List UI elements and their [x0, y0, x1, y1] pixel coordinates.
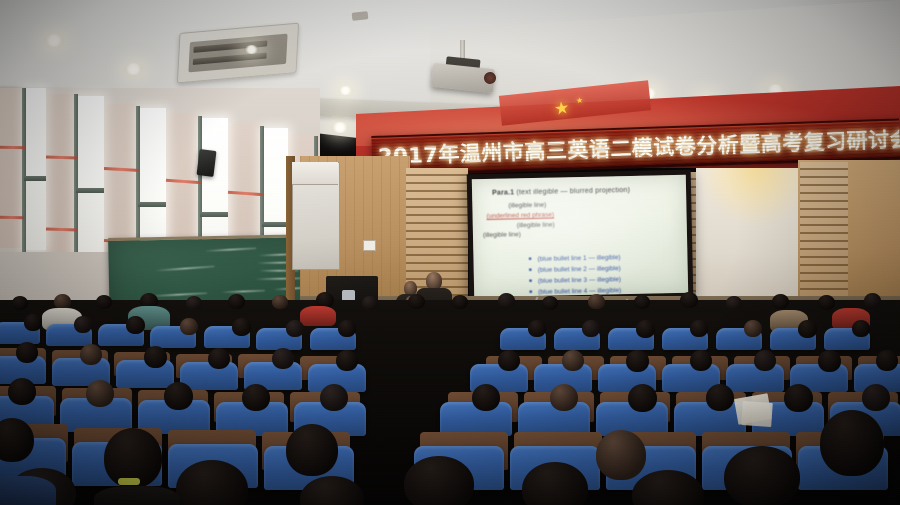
audience-head — [164, 382, 193, 410]
audience-head — [582, 320, 600, 337]
audience-head — [336, 350, 358, 371]
audience-head — [232, 318, 251, 336]
projection-screen: Para.1 (text illegible — blurred project… — [472, 175, 688, 297]
hair-tie-icon — [118, 478, 140, 485]
audience-head — [24, 314, 42, 331]
audience-head — [690, 350, 712, 371]
audience-head — [634, 295, 650, 309]
audience-head — [286, 320, 304, 337]
auditorium-seat[interactable] — [116, 360, 174, 388]
audience-head — [528, 320, 546, 337]
audience-head-foreground — [596, 430, 646, 480]
audience-head — [818, 350, 841, 372]
slide-bullet: (blue bullet line 2 — illegible) — [538, 264, 680, 274]
audience-head-foreground — [286, 424, 338, 476]
audience-head — [542, 296, 558, 310]
slide-heading: Para.1 (text illegible — blurred project… — [492, 186, 678, 197]
light-switch-plate[interactable] — [363, 240, 376, 251]
right-wall-light-glow — [696, 168, 806, 228]
audience-head — [636, 320, 655, 338]
audience-shoulders-foreground — [94, 486, 180, 505]
downlight-icon — [44, 34, 64, 47]
audience-head — [772, 294, 789, 309]
wall-stripe — [0, 216, 24, 219]
audience-head — [272, 348, 294, 369]
audience-head — [864, 293, 881, 308]
window — [76, 96, 104, 258]
audience-head-foreground — [820, 410, 884, 476]
audience-head — [588, 294, 605, 309]
audience-head — [818, 295, 835, 310]
window — [24, 88, 46, 250]
slide-bullet: (blue bullet line 3 — illegible) — [538, 275, 680, 285]
slide-line-3: (underlined red phrase) — [486, 212, 554, 220]
wall-panel — [0, 88, 24, 248]
slide-heading-label: Para.1 — [492, 189, 514, 196]
audience-head — [798, 320, 817, 338]
slide-heading-body: (text illegible — blurred projection) — [516, 187, 630, 196]
projection-screen-frame: Para.1 (text illegible — blurred project… — [467, 170, 694, 303]
audience-head — [16, 342, 38, 363]
audience-head — [144, 346, 167, 368]
downlight-icon — [244, 45, 259, 54]
downlight-icon — [124, 63, 143, 75]
audience-head — [628, 384, 657, 412]
audience-shoulders-foreground — [0, 476, 56, 505]
audience-head — [362, 296, 378, 310]
audience-head — [498, 350, 520, 371]
audience-head — [54, 294, 71, 309]
audience-head — [74, 316, 92, 333]
slide-bullet: (blue bullet line 1 — illegible) — [537, 253, 679, 263]
downlight-icon — [338, 86, 353, 95]
handout-paper — [741, 401, 773, 427]
wall-speaker-icon — [196, 149, 216, 177]
audience-head — [242, 384, 270, 411]
audience-head — [626, 350, 649, 372]
audience-head — [272, 295, 288, 309]
audience-head — [680, 292, 698, 308]
audience-head — [96, 295, 112, 309]
audience-head — [726, 296, 742, 310]
window-crossbar — [200, 212, 228, 217]
audience-head — [754, 350, 776, 371]
audience-head — [180, 318, 198, 335]
audience-head — [852, 320, 870, 337]
audience-head — [472, 384, 500, 411]
audience-head-foreground — [724, 446, 800, 505]
window-mullion — [22, 88, 26, 252]
audience-head — [80, 344, 102, 365]
audience-head — [784, 384, 813, 412]
window-crossbar — [24, 176, 46, 181]
audience-head — [86, 380, 114, 407]
audience-head — [744, 320, 762, 337]
air-conditioner-vent-icon — [177, 23, 299, 84]
slide-line-4: (illegible line) — [517, 222, 555, 230]
slide-line-2: (illegible line) — [508, 202, 546, 210]
audience-head — [338, 320, 356, 337]
door-transom — [292, 162, 338, 185]
audience-head — [228, 294, 245, 309]
audience-head — [498, 293, 515, 308]
audience-head — [12, 296, 28, 310]
wall-stripe — [0, 146, 26, 149]
slide-line-5: (illegible line) — [483, 231, 521, 239]
window-crossbar — [262, 222, 288, 227]
auditorium-seat[interactable] — [726, 364, 784, 392]
lecture-hall-photo: ★ 2017年温州市高三英语二模试卷分析暨高考复习研讨会 — [0, 0, 900, 505]
audience-head — [452, 295, 468, 309]
audience-head — [186, 296, 202, 310]
window-mullion — [74, 94, 78, 260]
audience-head — [408, 294, 425, 309]
slide-bullet-list: (blue bullet line 1 — illegible) (blue b… — [497, 253, 680, 297]
slide-bullet: (blue bullet line 4 — illegible) — [538, 286, 680, 296]
star-icon-small: ★ — [575, 96, 583, 106]
audience-head — [562, 350, 584, 371]
audience-head — [706, 384, 734, 411]
window-crossbar — [138, 202, 166, 207]
window-crossbar — [76, 188, 104, 193]
audience-head — [126, 316, 145, 334]
audience-shoulders — [300, 306, 336, 326]
downlight-icon — [331, 122, 349, 133]
audience-head — [862, 384, 890, 411]
audience-head-foreground — [404, 456, 474, 505]
audience-head — [550, 384, 578, 411]
audience-head — [690, 320, 708, 337]
audience-head — [320, 384, 348, 411]
ceiling-sensor-icon — [352, 11, 369, 21]
audience-head — [208, 348, 230, 369]
audience-head — [8, 378, 36, 405]
audience-seating-area — [0, 300, 900, 505]
audience-head — [876, 350, 898, 371]
right-acoustic-slat-wall — [800, 162, 848, 304]
wall-panel — [46, 94, 76, 256]
